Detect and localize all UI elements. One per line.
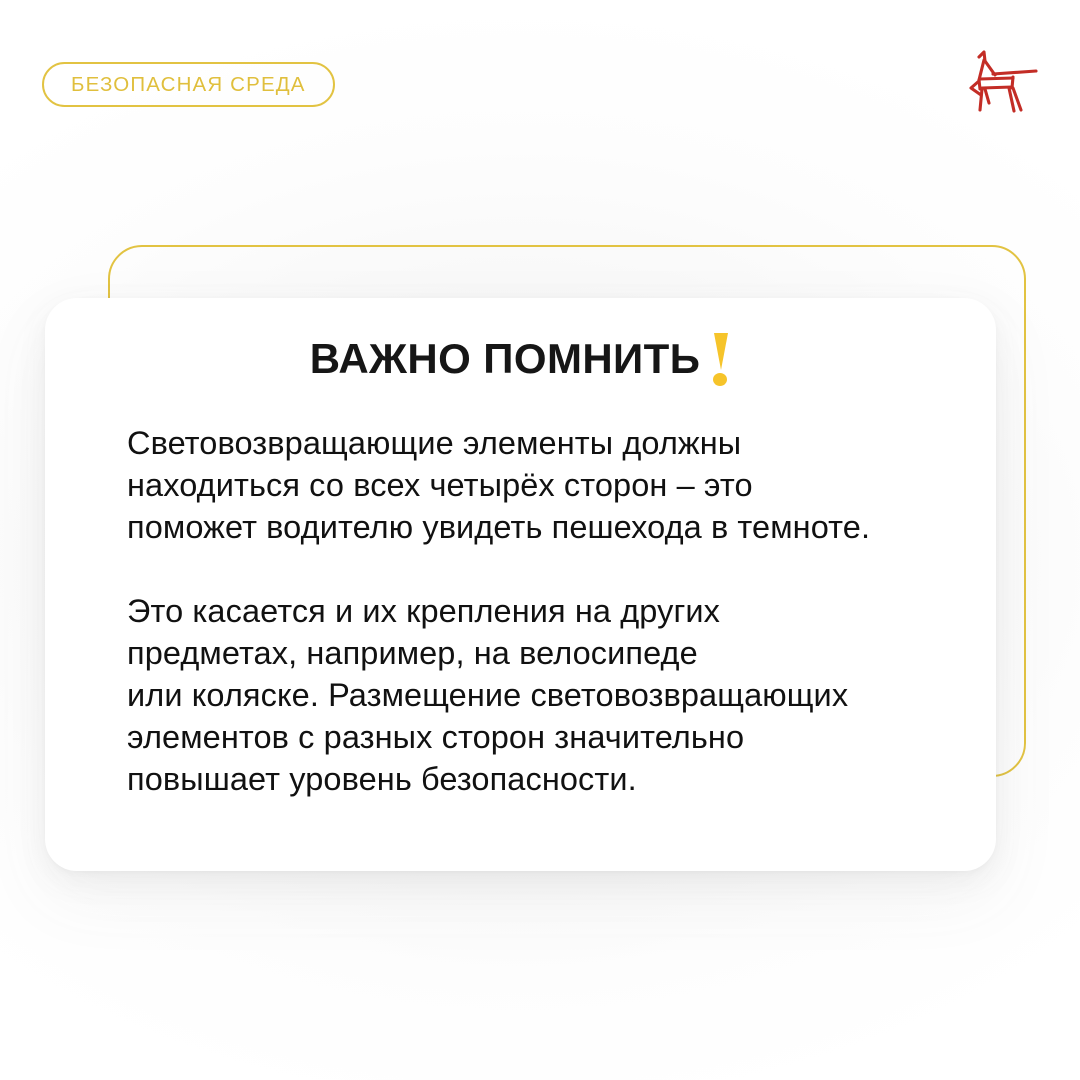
paragraph-line: находиться со всех четырёх сторон – это — [127, 464, 956, 506]
card-paragraphs: Световозвращающие элементы должны находи… — [82, 422, 966, 800]
card-title-text: ВАЖНО ПОМНИТЬ — [310, 336, 701, 381]
exclamation-mark-stem — [714, 333, 728, 370]
category-badge-label: БЕЗОПАСНАЯ СРЕДА — [71, 74, 306, 96]
horse-logo-icon — [964, 48, 1042, 114]
card-title: ВАЖНО ПОМНИТЬ — [82, 336, 966, 398]
paragraph-line: или коляске. Размещение световозвращающи… — [127, 674, 956, 716]
paragraph-2: Это касается и их крепления на других пр… — [127, 590, 956, 800]
paragraph-line: предметах, например, на велосипеде — [127, 632, 956, 674]
paragraph-line: элементов с разных сторон значительно — [127, 716, 956, 758]
paragraph-line: Это касается и их крепления на других — [127, 590, 956, 632]
content-card-body: ВАЖНО ПОМНИТЬ Световозвращающие элементы… — [45, 298, 996, 871]
paragraph-line: поможет водителю увидеть пешехода в темн… — [127, 506, 956, 548]
category-badge: БЕЗОПАСНАЯ СРЕДА — [42, 62, 335, 107]
content-card: ВАЖНО ПОМНИТЬ Световозвращающие элементы… — [45, 298, 996, 871]
paragraph-1: Световозвращающие элементы должны находи… — [127, 422, 956, 548]
paragraph-line: Световозвращающие элементы должны — [127, 422, 956, 464]
exclamation-mark-icon — [710, 333, 732, 385]
exclamation-mark-dot — [713, 373, 727, 386]
paragraph-line: повышает уровень безопасности. — [127, 758, 956, 800]
page-header: БЕЗОПАСНАЯ СРЕДА — [0, 0, 1080, 170]
